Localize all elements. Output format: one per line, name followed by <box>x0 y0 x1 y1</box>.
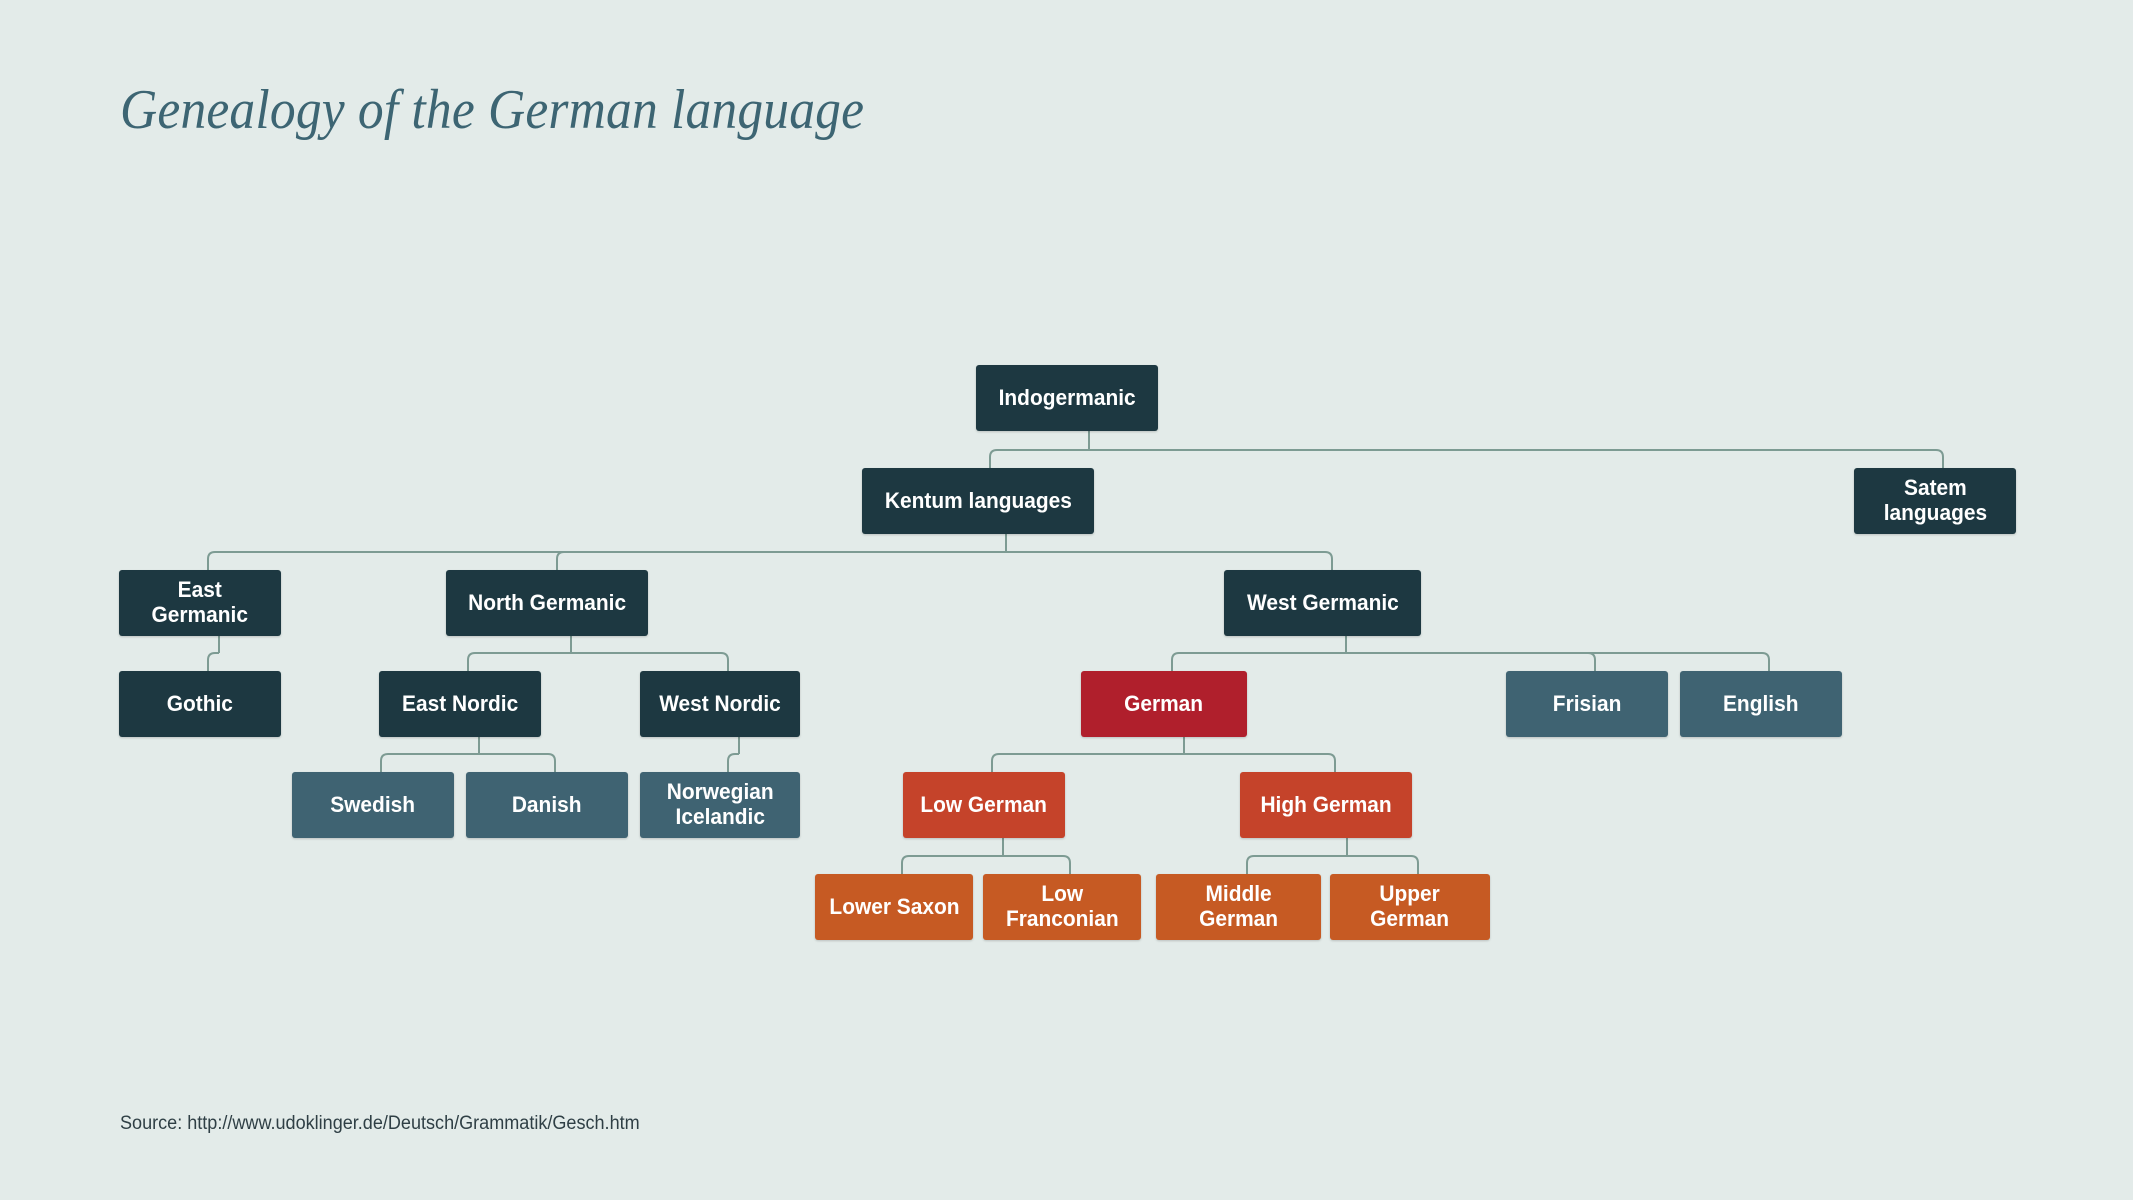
node-label: German <box>1125 692 1204 717</box>
connector-west-germanic-to-english <box>1346 653 1769 671</box>
connector-north-germanic-to-west-nordic <box>571 653 728 671</box>
node-label: Upper German <box>1371 882 1450 931</box>
node-label: Middle German <box>1199 882 1278 931</box>
connector-kentum-to-east-germanic <box>208 552 1006 570</box>
node-low-franconian[interactable]: Low Franconian <box>983 874 1141 940</box>
node-indogermanic[interactable]: Indogermanic <box>976 365 1158 431</box>
connector-low-german-to-low-franconian <box>1003 856 1070 874</box>
node-north-germanic[interactable]: North Germanic <box>446 570 648 636</box>
node-east-nordic[interactable]: East Nordic <box>379 671 541 737</box>
node-label: Danish <box>512 793 582 818</box>
node-label: English <box>1723 692 1798 717</box>
connector-low-german-to-lower-saxon <box>902 856 1003 874</box>
connector-east-nordic-to-danish <box>479 754 555 772</box>
node-low-german[interactable]: Low German <box>903 772 1065 838</box>
node-label: West Nordic <box>659 692 781 717</box>
node-label: Satem languages <box>1883 476 1986 525</box>
node-norwegian[interactable]: Norwegian Icelandic <box>640 772 800 838</box>
node-label: Norwegian Icelandic <box>667 780 774 829</box>
connector-north-germanic-to-east-nordic <box>468 653 571 671</box>
node-upper-german[interactable]: Upper German <box>1330 874 1490 940</box>
connector-high-german-to-middle-german <box>1247 856 1347 874</box>
node-danish[interactable]: Danish <box>466 772 628 838</box>
connector-west-germanic-to-frisian <box>1346 653 1595 671</box>
source-note: Source: http://www.udoklinger.de/Deutsch… <box>120 1113 640 1135</box>
connector-kentum-to-west-germanic <box>1006 552 1332 570</box>
node-label: Kentum languages <box>885 489 1072 514</box>
node-west-germanic[interactable]: West Germanic <box>1224 570 1421 636</box>
connector-high-german-to-upper-german <box>1347 856 1418 874</box>
node-german[interactable]: German <box>1081 671 1247 737</box>
node-label: East Nordic <box>402 692 518 717</box>
node-lower-saxon[interactable]: Lower Saxon <box>815 874 973 940</box>
node-english[interactable]: English <box>1680 671 1842 737</box>
node-label: Swedish <box>331 793 416 818</box>
node-label: North Germanic <box>468 591 626 616</box>
connector-german-to-high-german <box>1184 754 1335 772</box>
connector-west-germanic-to-german <box>1172 653 1346 671</box>
connector-layer <box>0 0 2133 1200</box>
node-label: West Germanic <box>1247 591 1399 616</box>
connector-german-to-low-german <box>992 754 1184 772</box>
connector-east-nordic-to-swedish <box>381 754 479 772</box>
connector-indogermanic-to-kentum <box>990 450 1089 468</box>
node-label: Indogermanic <box>998 386 1135 411</box>
node-kentum[interactable]: Kentum languages <box>862 468 1094 534</box>
node-gothic[interactable]: Gothic <box>119 671 281 737</box>
node-label: Frisian <box>1553 692 1622 717</box>
node-middle-german[interactable]: Middle German <box>1156 874 1321 940</box>
node-label: Gothic <box>167 692 233 717</box>
diagram-canvas: Genealogy of the German language Indoger… <box>0 0 2133 1200</box>
node-label: Low Franconian <box>1006 882 1119 931</box>
node-west-nordic[interactable]: West Nordic <box>640 671 800 737</box>
node-east-germanic[interactable]: East Germanic <box>119 570 281 636</box>
connector-kentum-to-north-germanic <box>557 552 1006 570</box>
node-label: High German <box>1260 793 1391 818</box>
connector-east-germanic-to-gothic <box>208 653 219 671</box>
node-label: Low German <box>921 793 1048 818</box>
connector-west-nordic-to-norwegian <box>728 754 739 772</box>
node-high-german[interactable]: High German <box>1240 772 1412 838</box>
connector-indogermanic-to-satem <box>1089 450 1943 468</box>
node-satem[interactable]: Satem languages <box>1854 468 2016 534</box>
node-label: East Germanic <box>152 578 248 627</box>
node-frisian[interactable]: Frisian <box>1506 671 1668 737</box>
node-label: Lower Saxon <box>829 895 959 920</box>
node-swedish[interactable]: Swedish <box>292 772 454 838</box>
